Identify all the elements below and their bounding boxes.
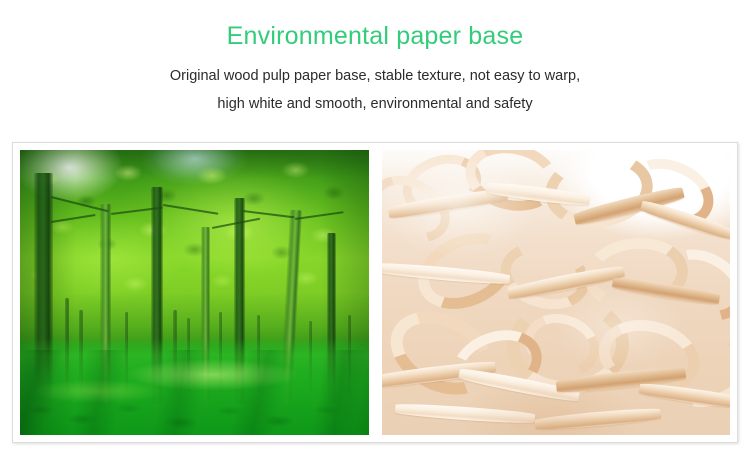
gallery-inner (20, 150, 730, 435)
gallery-frame (12, 142, 738, 443)
forest-vignette (20, 150, 369, 435)
wood-shavings-lighting (382, 150, 731, 435)
subtitle-line-1: Original wood pulp paper base, stable te… (0, 62, 750, 90)
promo-banner: Environmental paper base Original wood p… (0, 0, 750, 450)
forest-photo (20, 150, 369, 435)
subtitle-line-2: high white and smooth, environmental and… (0, 90, 750, 118)
page-title: Environmental paper base (0, 0, 750, 51)
subtitle: Original wood pulp paper base, stable te… (0, 51, 750, 119)
header: Environmental paper base Original wood p… (0, 0, 750, 119)
wood-shavings-photo (382, 150, 731, 435)
